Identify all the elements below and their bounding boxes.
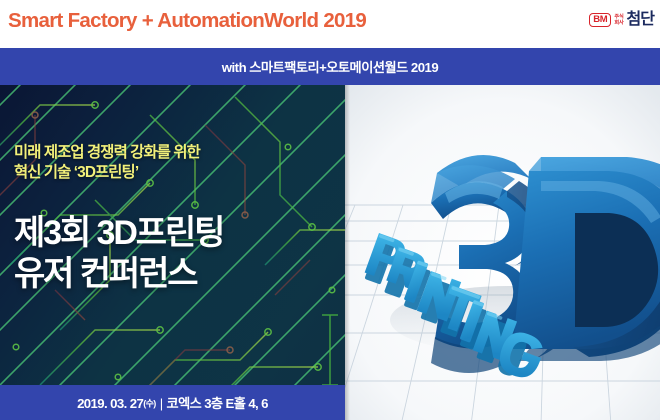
brand-name: 첨단 bbox=[627, 12, 654, 28]
poster-eyebrow-line2: 혁신 기술 ‘3D프린팅’ bbox=[14, 163, 200, 183]
event-date-text: 2019. 03. 27(수)|코엑스 3층 E홀 4, 6 bbox=[77, 393, 268, 412]
poster-left-panel: 미래 제조업 경쟁력 강화를 위한 혁신 기술 ‘3D프린팅’ 제3회 3D프린… bbox=[0, 85, 345, 420]
letter-D bbox=[513, 157, 660, 361]
page-header: Smart Factory + AutomationWorld 2019 BM … bbox=[0, 0, 660, 48]
3d-printing-artwork bbox=[345, 85, 660, 420]
panel-edge-shadow bbox=[345, 85, 350, 420]
page-title: Smart Factory + AutomationWorld 2019 bbox=[8, 9, 366, 33]
poster-eyebrow-line1: 미래 제조업 경쟁력 강화를 위한 bbox=[14, 143, 200, 163]
poster-title-line2: 유저 컨퍼런스 bbox=[14, 254, 223, 295]
bm-badge-icon: BM bbox=[589, 13, 611, 27]
event-date: 2019. 03. 27 bbox=[77, 396, 143, 411]
brand-sub-line2: 회사 bbox=[614, 20, 623, 26]
event-day-of-week: (수) bbox=[143, 399, 155, 409]
date-venue-separator: | bbox=[156, 396, 167, 411]
subtitle-bar: with 스마트팩토리+오토메이션월드 2019 bbox=[0, 48, 660, 85]
poster-right-panel bbox=[345, 85, 660, 420]
brand-sub-text: 주식 회사 bbox=[614, 14, 623, 26]
poster-eyebrow: 미래 제조업 경쟁력 강화를 위한 혁신 기술 ‘3D프린팅’ bbox=[14, 143, 200, 184]
event-venue: 코엑스 3층 E홀 4, 6 bbox=[167, 396, 268, 411]
brand-logo: BM 주식 회사 첨단 bbox=[589, 12, 654, 28]
poster-body: 미래 제조업 경쟁력 강화를 위한 혁신 기술 ‘3D프린팅’ 제3회 3D프린… bbox=[0, 85, 660, 420]
poster-title-line1: 제3회 3D프린팅 bbox=[14, 213, 223, 254]
poster-title: 제3회 3D프린팅 유저 컨퍼런스 bbox=[14, 213, 223, 295]
subtitle-bar-text: with 스마트팩토리+오토메이션월드 2019 bbox=[222, 57, 438, 76]
event-date-bar: 2019. 03. 27(수)|코엑스 3층 E홀 4, 6 bbox=[0, 385, 345, 420]
poster-page: Smart Factory + AutomationWorld 2019 BM … bbox=[0, 0, 660, 420]
